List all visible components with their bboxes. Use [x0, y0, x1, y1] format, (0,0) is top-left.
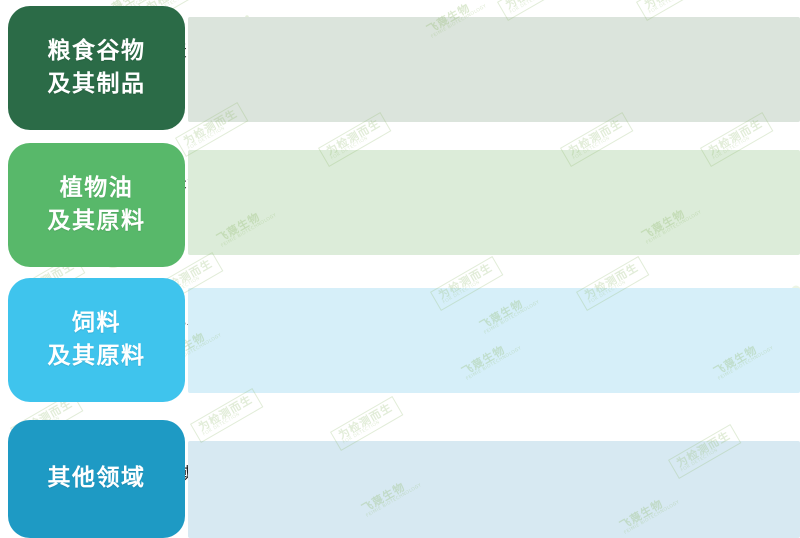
row-grain: 包括大米、小麦、大麦、玉米、高粱等及其制品如面粉、淀粉、酱油、醋、豆瓣酱等； 粮…: [0, 0, 800, 143]
card-label-vegetable-oil: 植物油 及其原料: [48, 172, 146, 239]
row-other: 坚果、中药等 其他领域 其他领域: [0, 413, 800, 538]
card-label-vegetable-oil-line2: 及其原料: [48, 205, 146, 238]
card-other[interactable]: 其他领域: [8, 420, 185, 538]
panel-vegetable-oil: [188, 150, 800, 255]
panel-grain: [188, 17, 800, 122]
card-label-vegetable-oil-line1: 植物油: [60, 175, 134, 201]
card-label-feed-line1: 饲料: [72, 310, 121, 336]
application-fields-diagram: 包括大米、小麦、大麦、玉米、高粱等及其制品如面粉、淀粉、酱油、醋、豆瓣酱等； 粮…: [0, 0, 800, 538]
card-label-other: 其他领域: [48, 462, 146, 495]
panel-other: [188, 441, 800, 538]
card-grain[interactable]: 粮食谷物 及其制品: [8, 6, 185, 130]
panel-feed: [188, 288, 800, 393]
card-label-feed: 饲料 及其原料: [48, 307, 146, 374]
card-vegetable-oil[interactable]: 植物油 及其原料: [8, 143, 185, 267]
row-vegetable-oil: 大豆油、花生油、玉米油、稻谷油、茶油、橄榄油、葵花籽油、色拉油、菜籽油、调和油、…: [0, 143, 800, 278]
card-feed[interactable]: 饲料 及其原料: [8, 278, 185, 402]
card-label-other-line1: 其他领域: [48, 465, 146, 491]
card-label-grain: 粮食谷物 及其制品: [48, 35, 146, 102]
card-label-grain-line1: 粮食谷物: [48, 38, 146, 64]
card-label-grain-line2: 及其制品: [48, 68, 146, 101]
card-label-feed-line2: 及其原料: [48, 340, 146, 373]
row-feed: 豆粕、花生粕、DDGS、米糠、玉米、小麦、大麦、高粱等以及饲料加工成品； 饲料 …: [0, 278, 800, 413]
